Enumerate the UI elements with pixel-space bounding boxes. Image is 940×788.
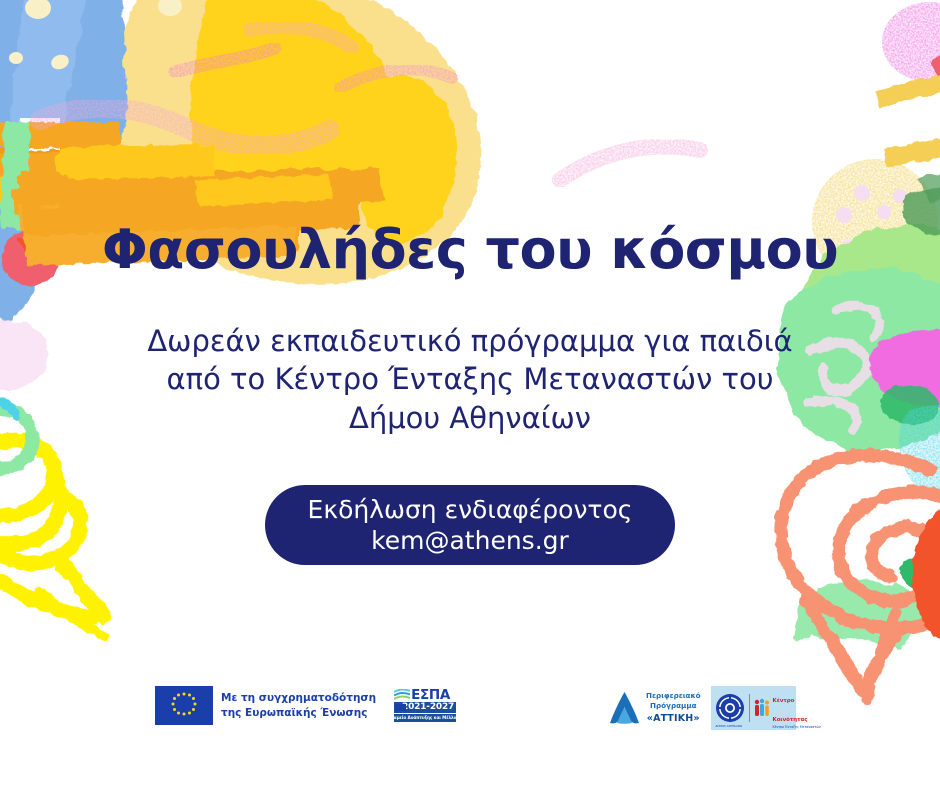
- eu-text-line-1: Με τη συγχρηματοδότηση: [221, 691, 376, 706]
- page-title: Φασουλήδες του κόσμου: [0, 222, 940, 279]
- kentro-text: Κέντρο Κοινότητας Κέντρο Ένταξης Μετανασ…: [773, 687, 821, 730]
- espa-mini-flag-icon: [395, 704, 406, 711]
- kentro-koinotitas-logo: ΔΗΜΟΣ ΑΘΗΝΑΙΩΝ Κέντρο Κοινότητας Κέ: [711, 686, 796, 730]
- logo-bar: Με τη συγχρηματοδότηση της Ευρωπαϊκής Έν…: [0, 686, 940, 734]
- athens-city-seal-icon: [715, 693, 745, 723]
- athens-seal-caption: ΔΗΜΟΣ ΑΘΗΝΑΙΩΝ: [716, 724, 743, 728]
- eu-cofunding-text: Με τη συγχρηματοδότηση της Ευρωπαϊκής Έν…: [221, 691, 376, 721]
- community-people-icon: [754, 698, 770, 718]
- espa-waves-icon: [394, 689, 410, 702]
- attiki-line-1: Περιφερειακό: [646, 691, 701, 701]
- eu-espa-logo-group: Με τη συγχρηματοδότηση της Ευρωπαϊκής Έν…: [155, 686, 456, 725]
- kentro-divider: [749, 694, 750, 722]
- european-union-flag-icon: [155, 686, 213, 725]
- eu-stars-icon: [155, 686, 213, 725]
- attiki-program-logo: Περιφερειακό Πρόγραμμα «ΑΤΤΙΚΗ»: [608, 690, 701, 726]
- poster-canvas: Φασουλήδες του κόσμου Δωρεάν εκπαιδευτικ…: [0, 0, 940, 788]
- subtitle-line-1: Δωρεάν εκπαιδευτικό πρόγραμμα για παιδιά: [0, 322, 940, 360]
- espa-tagline: Ταμείο Ανάπτυξης και Μέλλον: [394, 714, 456, 722]
- kentro-koinotitas-mark: Κέντρο Κοινότητας Κέντρο Ένταξης Μετανασ…: [754, 687, 821, 730]
- eu-text-line-2: της Ευρωπαϊκής Ένωσης: [221, 706, 376, 721]
- subtitle-line-3: Δήμου Αθηναίων: [0, 399, 940, 437]
- subtitle-line-2: από το Κέντρο Ένταξης Μεταναστών του: [0, 360, 940, 398]
- cta-email: kem@athens.gr: [371, 525, 569, 556]
- espa-wordmark: ΕΣΠΑ: [411, 687, 450, 703]
- espa-logo: ΕΣΠΑ 2021-2027 Ταμείο Ανάπτυξης και Μέλλ…: [394, 687, 456, 725]
- kentro-label-2: Κοινότητας: [773, 717, 808, 723]
- attiki-a-mark-icon: [608, 690, 641, 726]
- regional-logo-group: Περιφερειακό Πρόγραμμα «ΑΤΤΙΚΗ»: [608, 686, 796, 730]
- contact-cta-button[interactable]: Εκδήλωση ενδιαφέροντος kem@athens.gr: [265, 485, 675, 565]
- attiki-line-2: Πρόγραμμα: [646, 701, 701, 711]
- subtitle: Δωρεάν εκπαιδευτικό πρόγραμμα για παιδιά…: [0, 322, 940, 437]
- attiki-line-3: «ΑΤΤΙΚΗ»: [646, 712, 701, 726]
- kentro-label-1: Κέντρο: [773, 698, 795, 704]
- kentro-sub: Κέντρο Ένταξης Μεταναστών: [773, 726, 821, 730]
- cta-label: Εκδήλωση ενδιαφέροντος: [308, 494, 633, 525]
- attiki-text: Περιφερειακό Πρόγραμμα «ΑΤΤΙΚΗ»: [646, 691, 701, 726]
- poster-content: Φασουλήδες του κόσμου Δωρεάν εκπαιδευτικ…: [0, 0, 940, 788]
- espa-years: 2021-2027: [394, 702, 456, 713]
- espa-years-label: 2021-2027: [402, 702, 454, 712]
